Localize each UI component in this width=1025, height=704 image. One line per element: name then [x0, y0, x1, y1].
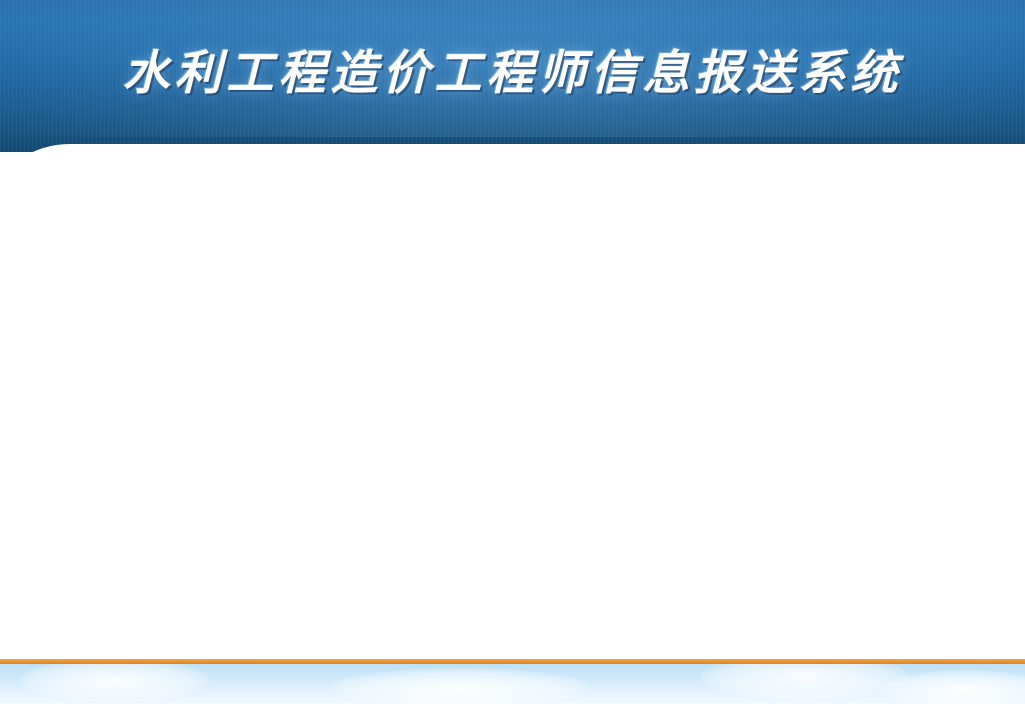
cloud-decoration [880, 670, 1025, 704]
page-root: 水利工程造价工程师信息报送系统 角色选择 单位预申请 [0, 0, 1025, 704]
footer-sky [0, 664, 1025, 704]
cloud-decoration [330, 668, 590, 704]
footer-divider [0, 659, 1025, 664]
cloud-decoration [700, 664, 910, 700]
header-banner: 水利工程造价工程师信息报送系统 [0, 0, 1025, 152]
page-title: 水利工程造价工程师信息报送系统 [0, 34, 1025, 103]
cloud-decoration [20, 664, 210, 702]
content-panel [0, 144, 1025, 661]
